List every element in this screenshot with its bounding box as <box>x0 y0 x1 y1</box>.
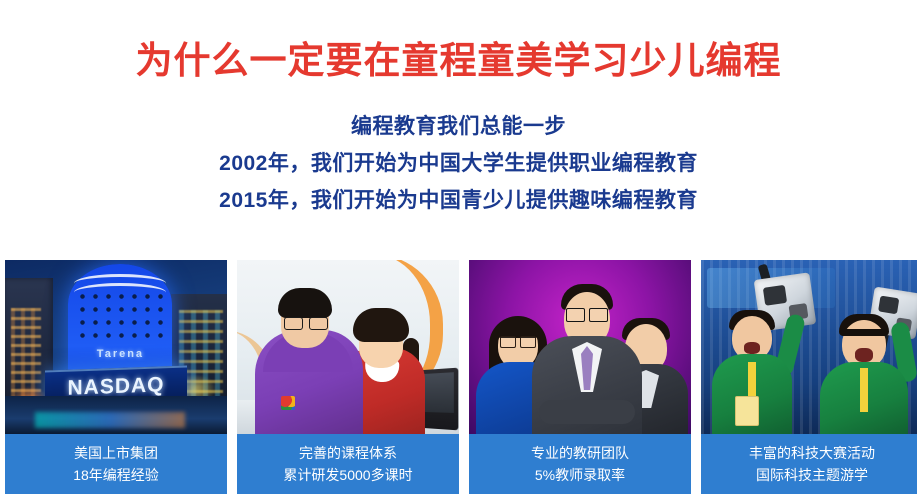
promo-page: 为什么一定要在童程童美学习少儿编程 编程教育我们总能一步 2002年，我们开始为… <box>0 0 917 500</box>
photo-faculty-team <box>469 260 691 434</box>
subtitle-block: 编程教育我们总能一步 2002年，我们开始为中国大学生提供职业编程教育 2015… <box>0 108 917 219</box>
photo-teacher-student <box>237 260 459 434</box>
student-hair <box>353 308 409 342</box>
crossed-arms <box>539 400 635 424</box>
tarena-logo-text: Tarena <box>68 348 172 360</box>
eyeglasses <box>566 308 608 320</box>
caption-line-2: 18年编程经验 <box>73 464 159 486</box>
feature-card-faculty[interactable]: 专业的教研团队 5%教师录取率 <box>469 260 691 494</box>
caption-line-1: 完善的课程体系 <box>299 442 397 464</box>
caption-line-1: 丰富的科技大赛活动 <box>749 442 875 464</box>
card-caption-nasdaq: 美国上市集团 18年编程经验 <box>5 434 227 494</box>
lanyard <box>860 368 868 412</box>
child-left <box>709 306 795 434</box>
headband <box>840 329 888 336</box>
caption-line-1: 美国上市集团 <box>74 442 158 464</box>
subtitle-line-3: 2015年，我们开始为中国青少儿提供趣味编程教育 <box>0 182 917 219</box>
page-title: 为什么一定要在童程童美学习少儿编程 <box>0 39 917 83</box>
teacher-glasses <box>284 317 328 328</box>
teacher-hair <box>278 288 332 318</box>
card-caption-faculty: 专业的教研团队 5%教师录取率 <box>469 434 691 494</box>
open-mouth <box>855 348 873 362</box>
feature-card-curriculum[interactable]: 完善的课程体系 累计研发5000多课时 <box>237 260 459 494</box>
caption-line-2: 5%教师录取率 <box>535 464 625 486</box>
hoodie-logo-patch <box>281 396 295 410</box>
id-badge <box>735 396 759 426</box>
caption-line-2: 累计研发5000多课时 <box>283 464 412 486</box>
child-right <box>817 314 911 434</box>
open-mouth <box>744 342 760 354</box>
photo-kids-robots <box>701 260 917 434</box>
street-level <box>5 396 227 434</box>
subtitle-line-2: 2002年，我们开始为中国大学生提供职业编程教育 <box>0 145 917 182</box>
card-caption-curriculum: 完善的课程体系 累计研发5000多课时 <box>237 434 459 494</box>
feature-card-competition[interactable]: 丰富的科技大赛活动 国际科技主题游学 <box>701 260 917 494</box>
feature-card-list: Tarena NASDAQ 美国上市集团 18年编程经验 <box>5 260 912 500</box>
tower-led-dots <box>76 290 164 342</box>
caption-line-1: 专业的教研团队 <box>531 442 629 464</box>
caption-line-2: 国际科技主题游学 <box>756 464 868 486</box>
subtitle-line-1: 编程教育我们总能一步 <box>0 108 917 145</box>
photo-nasdaq-building: Tarena NASDAQ <box>5 260 227 434</box>
card-caption-competition: 丰富的科技大赛活动 国际科技主题游学 <box>701 434 917 494</box>
feature-card-nasdaq[interactable]: Tarena NASDAQ 美国上市集团 18年编程经验 <box>5 260 227 494</box>
faculty-member-center <box>531 284 643 434</box>
